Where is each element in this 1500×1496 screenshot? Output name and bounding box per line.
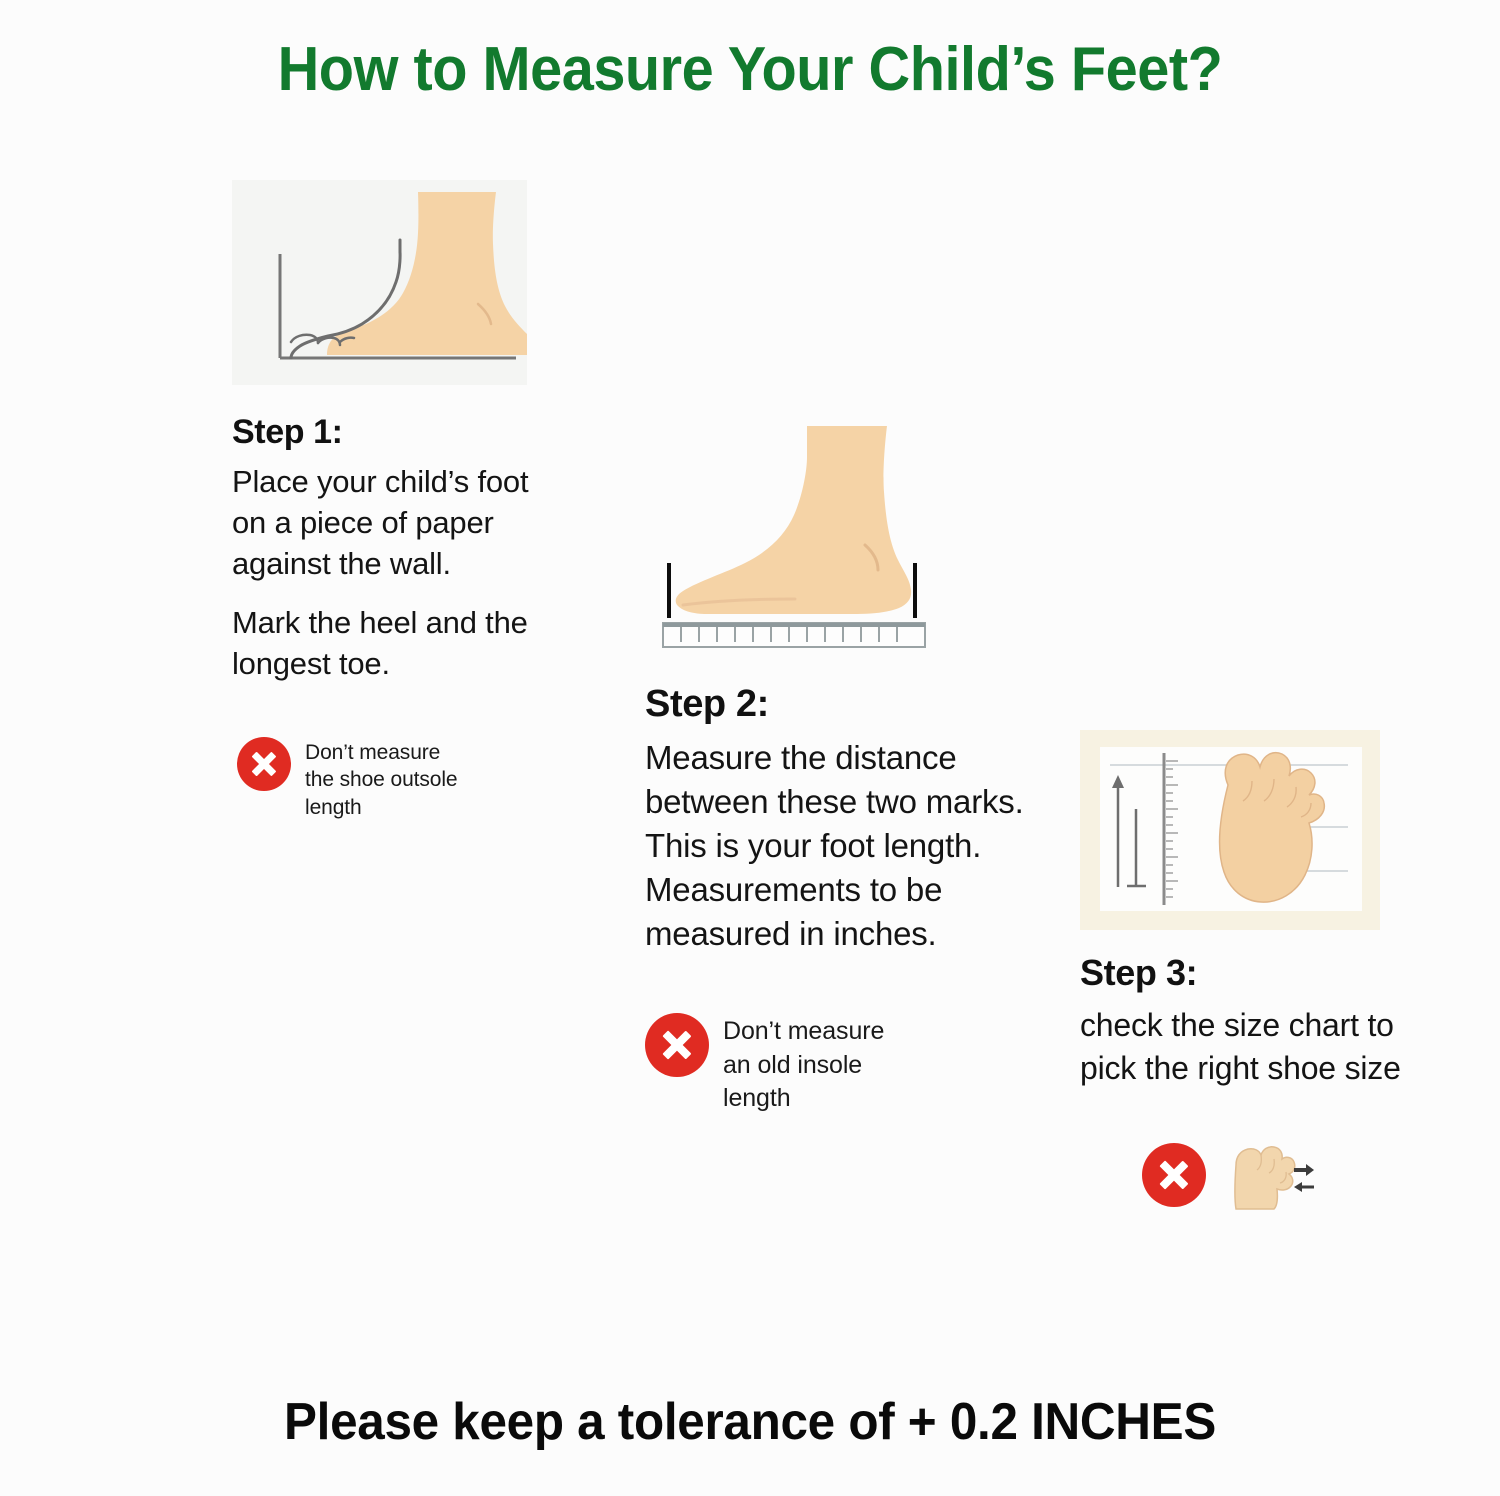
step-1-body-line-1: Place your child’s foot on a piece of pa… (232, 462, 562, 585)
step-2-warning-line-1: Don’t measure (723, 1015, 884, 1048)
step-3-warning (1142, 1135, 1420, 1215)
footprint-shape (1219, 753, 1324, 902)
step-1-warning-line-2: the shoe outsole (305, 766, 458, 794)
step-3-body: check the size chart to pick the right s… (1080, 1004, 1420, 1089)
step-2-body: Measure the distance between these two m… (645, 736, 1075, 955)
red-x-icon (1142, 1143, 1206, 1207)
step-2-body-line-1: Measure the distance between these two m… (645, 736, 1075, 955)
step-1-warning-line-3: length (305, 794, 458, 822)
step-1-warning-text: Don’t measure the shoe outsole length (305, 737, 458, 823)
step-2-warning-line-2: an old insole (723, 1049, 884, 1082)
step-2-heading: Step 2: (645, 683, 1075, 726)
infographic-page: How to Measure Your Child’s Feet? Ste (0, 0, 1500, 1496)
foot-profile-against-wall-icon (232, 180, 527, 385)
red-x-icon (645, 1013, 709, 1077)
step-1-block: Step 1: Place your child’s foot on a pie… (232, 180, 562, 822)
step-3-illustration-footprint-ruler (1080, 730, 1380, 930)
step-2-warning: Don’t measure an old insole length (645, 1013, 1075, 1115)
tolerance-note: Please keep a tolerance of + 0.2 INCHES (38, 1392, 1463, 1452)
step-1-body-line-2: Mark the heel and the longest toe. (232, 603, 562, 685)
step-1-warning-line-1: Don’t measure (305, 739, 458, 767)
step-1-body: Place your child’s foot on a piece of pa… (232, 462, 562, 685)
step-3-body-line-1: check the size chart to pick the right s… (1080, 1004, 1420, 1089)
step-2-warning-line-3: length (723, 1082, 884, 1115)
step-2-illustration-foot-with-ruler (653, 420, 953, 655)
step-3-block: Step 3: check the size chart to pick the… (1080, 730, 1420, 1215)
step-3-heading: Step 3: (1080, 952, 1420, 994)
step-1-illustration-foot-against-wall (232, 180, 527, 385)
step-2-warning-text: Don’t measure an old insole length (723, 1013, 884, 1115)
step-3-inner-card (1100, 747, 1362, 911)
foot-profile-with-ruler-icon (653, 420, 953, 655)
squeezed-footprint-icon (1220, 1135, 1316, 1215)
page-title: How to Measure Your Child’s Feet? (53, 34, 1448, 105)
footprint-with-vertical-ruler-icon (1100, 747, 1362, 911)
step-2-block: Step 2: Measure the distance between the… (645, 420, 1075, 1115)
step-1-heading: Step 1: (232, 413, 562, 452)
step-1-warning: Don’t measure the shoe outsole length (237, 737, 562, 823)
red-x-icon (237, 737, 291, 791)
